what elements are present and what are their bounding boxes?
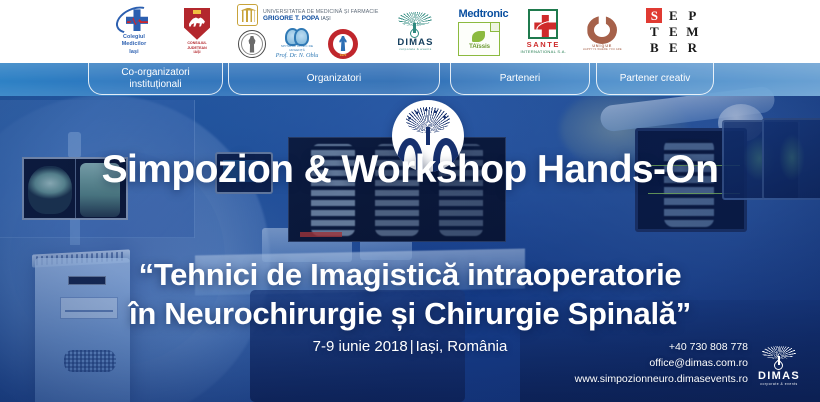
tab-label-wrapper: Co-organizatori instituționali bbox=[121, 67, 189, 91]
leaf-icon bbox=[472, 31, 485, 42]
logo-group-parteneri: Medtronic TAïssis SANTE INTERNATIONAL S.… bbox=[458, 0, 626, 63]
september-logo: S T B E E E P M R bbox=[646, 8, 700, 55]
umf-header: UNIVERSITATEA DE MEDICINĂ ȘI FARMACIE GR… bbox=[237, 4, 378, 26]
event-subtitle-line-2: în Neurochirurgie și Chirurgie Spinală” bbox=[0, 294, 820, 333]
dimas-footer-logo: DIMAS corporate & events bbox=[750, 346, 808, 386]
dimas-footer-wordmark: DIMAS bbox=[750, 370, 808, 382]
colegiul-medicilor-label: Colegiul Medicilor Iași bbox=[103, 34, 165, 55]
event-location: Iași, România bbox=[416, 338, 508, 355]
september-letter-r: R bbox=[684, 40, 700, 55]
september-letter-e3: E bbox=[665, 40, 681, 55]
colegiul-medicilor-icon bbox=[114, 7, 154, 33]
september-letter-e2: E bbox=[665, 24, 681, 39]
sponsor-logo-strip: Colegiul Medicilor Iași CONSILIUL JUDEȚE… bbox=[0, 0, 820, 63]
umf-partner-seals: SPITALUL CLINIC DE URGENȚĂ Prof. Dr. N. … bbox=[238, 28, 378, 59]
cj-line-3: IAȘI bbox=[177, 50, 217, 55]
page-title: Simpozion & Workshop Hands-On bbox=[0, 148, 820, 192]
event-poster: O-arm bbox=[0, 0, 820, 402]
september-letter-p: P bbox=[684, 8, 700, 23]
tab-label-line-1: Co-organizatori bbox=[121, 67, 189, 78]
dateline-separator: | bbox=[408, 338, 416, 355]
society-year: 1970 bbox=[328, 53, 358, 57]
category-tabs: Co-organizatori instituționali Organizat… bbox=[0, 63, 820, 99]
contact-phone[interactable]: +40 730 808 778 bbox=[575, 340, 748, 356]
unicer-logo: UNIQUE HAPPY IS WHERE YOU ARE bbox=[578, 12, 626, 51]
tab-organizatori[interactable]: Organizatori bbox=[228, 63, 440, 95]
event-subtitle-line-1: “Tehnici de Imagistică intraoperatorie bbox=[0, 255, 820, 294]
page-fold-icon bbox=[490, 23, 499, 32]
september-column-1: S T B bbox=[646, 8, 662, 55]
september-letter-e1: E bbox=[665, 8, 681, 23]
medtronic-wordmark: Medtronic bbox=[458, 8, 508, 20]
spitalul-urgenta-logo: SPITALUL CLINIC DE URGENȚĂ Prof. Dr. N. … bbox=[274, 28, 320, 59]
logo-group-co-organizatori: Colegiul Medicilor Iași CONSILIUL JUDEȚE… bbox=[103, 0, 217, 63]
september-letter-s: S bbox=[646, 8, 662, 23]
tree-trunk bbox=[426, 127, 430, 145]
tree-dots bbox=[405, 105, 451, 129]
crest-icon bbox=[193, 10, 201, 14]
event-date: 7-9 iunie 2018 bbox=[313, 338, 408, 355]
sante-icon bbox=[528, 9, 558, 39]
contact-block: +40 730 808 778 office@dimas.com.ro www.… bbox=[575, 340, 748, 388]
logo-group-organizatori: UNIVERSITATEA DE MEDICINĂ ȘI FARMACIE GR… bbox=[237, 0, 444, 63]
ring-shape bbox=[587, 16, 617, 44]
september-letter-m: M bbox=[684, 24, 700, 39]
september-column-2: E E E bbox=[665, 8, 681, 55]
shield-icon bbox=[184, 8, 210, 40]
dimas-tree-icon-footer bbox=[762, 346, 796, 370]
cm-line-1: Colegiul bbox=[103, 34, 165, 41]
umf-logo: UNIVERSITATEA DE MEDICINĂ ȘI FARMACIE GR… bbox=[237, 4, 378, 59]
umf-name: GRIGORE T. POPA bbox=[263, 15, 319, 22]
dimas-footer-tagline: corporate & events bbox=[750, 382, 808, 386]
tab-label-line-2: instituționali bbox=[129, 79, 181, 90]
dimas-tree-icon bbox=[398, 12, 432, 38]
taissis-wordmark: TAïssis bbox=[459, 43, 499, 50]
september-letter-b: B bbox=[646, 40, 662, 55]
logo-group-partener-creativ: S T B E E E P M R bbox=[646, 0, 700, 63]
sante-wordmark: SANTE bbox=[517, 40, 569, 49]
cm-line-2: Medicilor bbox=[103, 41, 165, 48]
brain-hemispheres-icon bbox=[285, 28, 309, 43]
tree-drop bbox=[409, 27, 422, 40]
dimas-tagline: corporate & events bbox=[386, 47, 444, 51]
umf-city: IAȘI bbox=[321, 16, 331, 22]
contact-website[interactable]: www.simpozionneuro.dimasevents.ro bbox=[575, 372, 748, 388]
sante-subtitle: INTERNATIONAL S.A. bbox=[517, 49, 569, 54]
unicer-tagline: HAPPY IS WHERE YOU ARE bbox=[578, 48, 626, 51]
consiliul-judetean-logo: CONSILIUL JUDEȚEAN IAȘI bbox=[177, 8, 217, 56]
spitalul-signature: Prof. Dr. N. Oblu bbox=[274, 52, 320, 59]
horse-icon bbox=[188, 16, 206, 29]
september-letter-t: T bbox=[646, 24, 662, 39]
dimas-logo: DIMAS corporate & events bbox=[386, 12, 444, 52]
tab-co-organizatori-institutionali[interactable]: Co-organizatori instituționali bbox=[88, 63, 223, 95]
september-column-3: P M R bbox=[684, 8, 700, 55]
sante-logo: SANTE INTERNATIONAL S.A. bbox=[517, 9, 569, 54]
tree-drop bbox=[772, 359, 785, 372]
university-building-icon bbox=[237, 4, 258, 26]
unicer-ring-icon bbox=[587, 12, 617, 44]
tab-partener-creativ[interactable]: Partener creativ bbox=[596, 63, 714, 95]
umf-text: UNIVERSITATEA DE MEDICINĂ ȘI FARMACIE GR… bbox=[263, 9, 378, 22]
medtronic-taissis-block: Medtronic TAïssis bbox=[458, 8, 508, 56]
sf-spiridon-seal-icon bbox=[238, 30, 266, 58]
contact-email[interactable]: office@dimas.com.ro bbox=[575, 356, 748, 372]
cm-line-3: Iași bbox=[103, 49, 165, 56]
colegiul-medicilor-logo: Colegiul Medicilor Iași bbox=[103, 7, 165, 55]
umf-line-2: GRIGORE T. POPA IAȘI bbox=[263, 15, 378, 22]
consiliul-judetean-label: CONSILIUL JUDEȚEAN IAȘI bbox=[177, 41, 217, 56]
dimas-wordmark: DIMAS bbox=[386, 38, 444, 48]
event-subtitle: “Tehnici de Imagistică intraoperatorie î… bbox=[0, 255, 820, 334]
tab-parteneri[interactable]: Parteneri bbox=[450, 63, 590, 95]
taissis-logo: TAïssis bbox=[458, 22, 500, 56]
societatea-neurochirurgie-seal-icon: 1970 bbox=[328, 29, 358, 59]
